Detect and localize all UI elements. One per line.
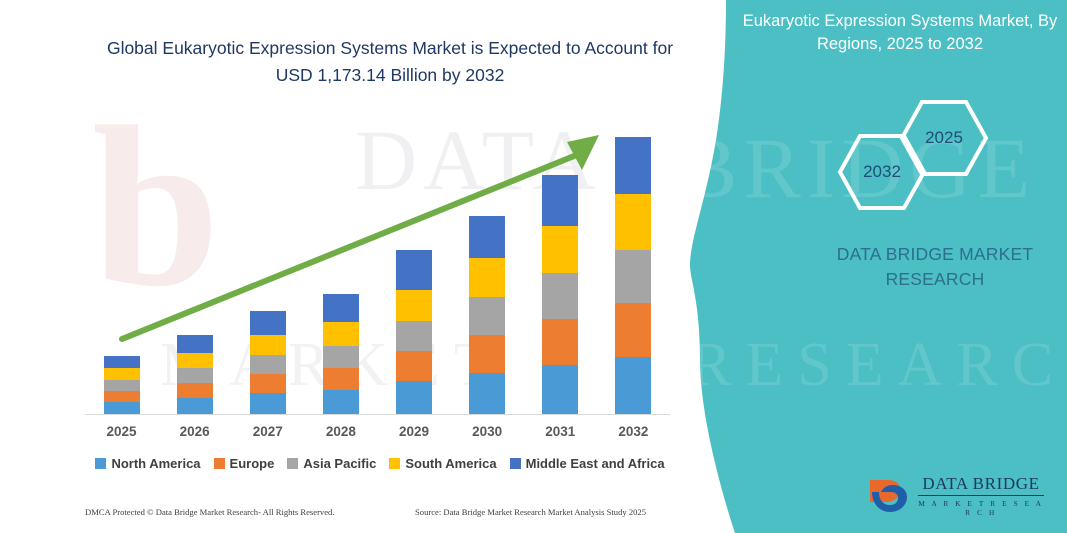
- x-axis-label: 2025: [87, 424, 157, 439]
- bar-segment: [615, 357, 651, 414]
- logo-main-text: DATA BRIDGE: [918, 474, 1044, 496]
- bar-column: [250, 311, 286, 414]
- bar-segment: [104, 402, 140, 414]
- x-axis-line: [85, 414, 670, 415]
- x-axis-label: 2029: [379, 424, 449, 439]
- x-axis-labels: 20252026202720282029203020312032: [85, 424, 670, 444]
- bar-column: [104, 356, 140, 414]
- bar-segment: [469, 258, 505, 297]
- bar-segment: [323, 368, 359, 390]
- bar-segment: [323, 346, 359, 368]
- data-bridge-logo: DATA BRIDGE M A R K E T R E S E A R C H: [866, 472, 1044, 518]
- chart-plot-area: [85, 120, 670, 415]
- x-axis-label: 2027: [233, 424, 303, 439]
- bar-segment: [177, 353, 213, 368]
- bar-segment: [469, 216, 505, 258]
- footer: DMCA Protected © Data Bridge Market Rese…: [85, 507, 685, 517]
- bar-segment: [250, 311, 286, 335]
- bar-column: [615, 137, 651, 414]
- bar-column: [396, 250, 432, 414]
- chart-legend: North AmericaEuropeAsia PacificSouth Ame…: [85, 456, 675, 471]
- footer-copyright: DMCA Protected © Data Bridge Market Rese…: [85, 507, 415, 517]
- bar-column: [469, 216, 505, 414]
- bar-segment: [104, 391, 140, 402]
- bar-segment: [542, 319, 578, 365]
- chart-title: Global Eukaryotic Expression Systems Mar…: [90, 35, 690, 88]
- side-panel-title: Eukaryotic Expression Systems Market, By…: [740, 10, 1060, 57]
- bar-segment: [396, 290, 432, 321]
- side-panel-brand-text: DATA BRIDGE MARKET RESEARCH: [790, 242, 1067, 293]
- logo-wordmark: DATA BRIDGE M A R K E T R E S E A R C H: [918, 474, 1044, 517]
- legend-swatch-icon: [287, 458, 298, 469]
- bar-segment: [396, 381, 432, 414]
- bar-segment: [396, 351, 432, 381]
- bar-segment: [323, 322, 359, 346]
- bar-segment: [615, 303, 651, 357]
- legend-item[interactable]: South America: [389, 456, 496, 471]
- bar-segment: [104, 356, 140, 368]
- bar-segment: [250, 335, 286, 355]
- x-axis-label: 2031: [525, 424, 595, 439]
- legend-swatch-icon: [95, 458, 106, 469]
- bar-segment: [615, 250, 651, 303]
- legend-item[interactable]: Europe: [214, 456, 275, 471]
- hexagon-group: 2025 2032: [826, 100, 1026, 210]
- x-axis-label: 2032: [598, 424, 668, 439]
- bar-segment: [250, 355, 286, 374]
- legend-label: Middle East and Africa: [526, 456, 665, 471]
- legend-item[interactable]: North America: [95, 456, 200, 471]
- bar-segment: [104, 368, 140, 380]
- hexagon-2032-label: 2032: [838, 134, 926, 210]
- bar-segment: [542, 273, 578, 319]
- bar-segment: [323, 390, 359, 414]
- bar-segment: [542, 365, 578, 414]
- bar-segment: [469, 373, 505, 414]
- logo-mark-icon: [866, 472, 912, 518]
- hexagon-2032: 2032: [838, 134, 926, 210]
- bar-segment: [323, 294, 359, 322]
- legend-swatch-icon: [389, 458, 400, 469]
- bar-column: [177, 335, 213, 414]
- bar-segment: [250, 393, 286, 414]
- infographic-root: b DATA MARKET BRIDGE RESEARCH Eukaryotic…: [0, 0, 1067, 533]
- legend-label: Asia Pacific: [303, 456, 376, 471]
- bar-column: [323, 294, 359, 414]
- bar-segment: [104, 380, 140, 391]
- legend-label: Europe: [230, 456, 275, 471]
- bar-segment: [542, 175, 578, 226]
- bar-segment: [177, 335, 213, 353]
- logo-sub-text: M A R K E T R E S E A R C H: [918, 499, 1044, 517]
- bar-segment: [615, 194, 651, 250]
- bar-segment: [250, 374, 286, 393]
- bar-segment: [396, 321, 432, 351]
- bar-segment: [469, 297, 505, 335]
- x-axis-label: 2030: [452, 424, 522, 439]
- bar-segment: [396, 250, 432, 290]
- bar-column: [542, 175, 578, 414]
- bar-segment: [177, 398, 213, 414]
- bar-segment: [615, 137, 651, 194]
- legend-swatch-icon: [510, 458, 521, 469]
- bar-segment: [469, 335, 505, 373]
- legend-swatch-icon: [214, 458, 225, 469]
- x-axis-label: 2028: [306, 424, 376, 439]
- legend-item[interactable]: Asia Pacific: [287, 456, 376, 471]
- legend-label: South America: [405, 456, 496, 471]
- bar-segment: [177, 383, 213, 398]
- bar-segment: [542, 226, 578, 273]
- legend-label: North America: [111, 456, 200, 471]
- x-axis-label: 2026: [160, 424, 230, 439]
- legend-item[interactable]: Middle East and Africa: [510, 456, 665, 471]
- footer-source: Source: Data Bridge Market Research Mark…: [415, 507, 646, 517]
- bar-segment: [177, 368, 213, 383]
